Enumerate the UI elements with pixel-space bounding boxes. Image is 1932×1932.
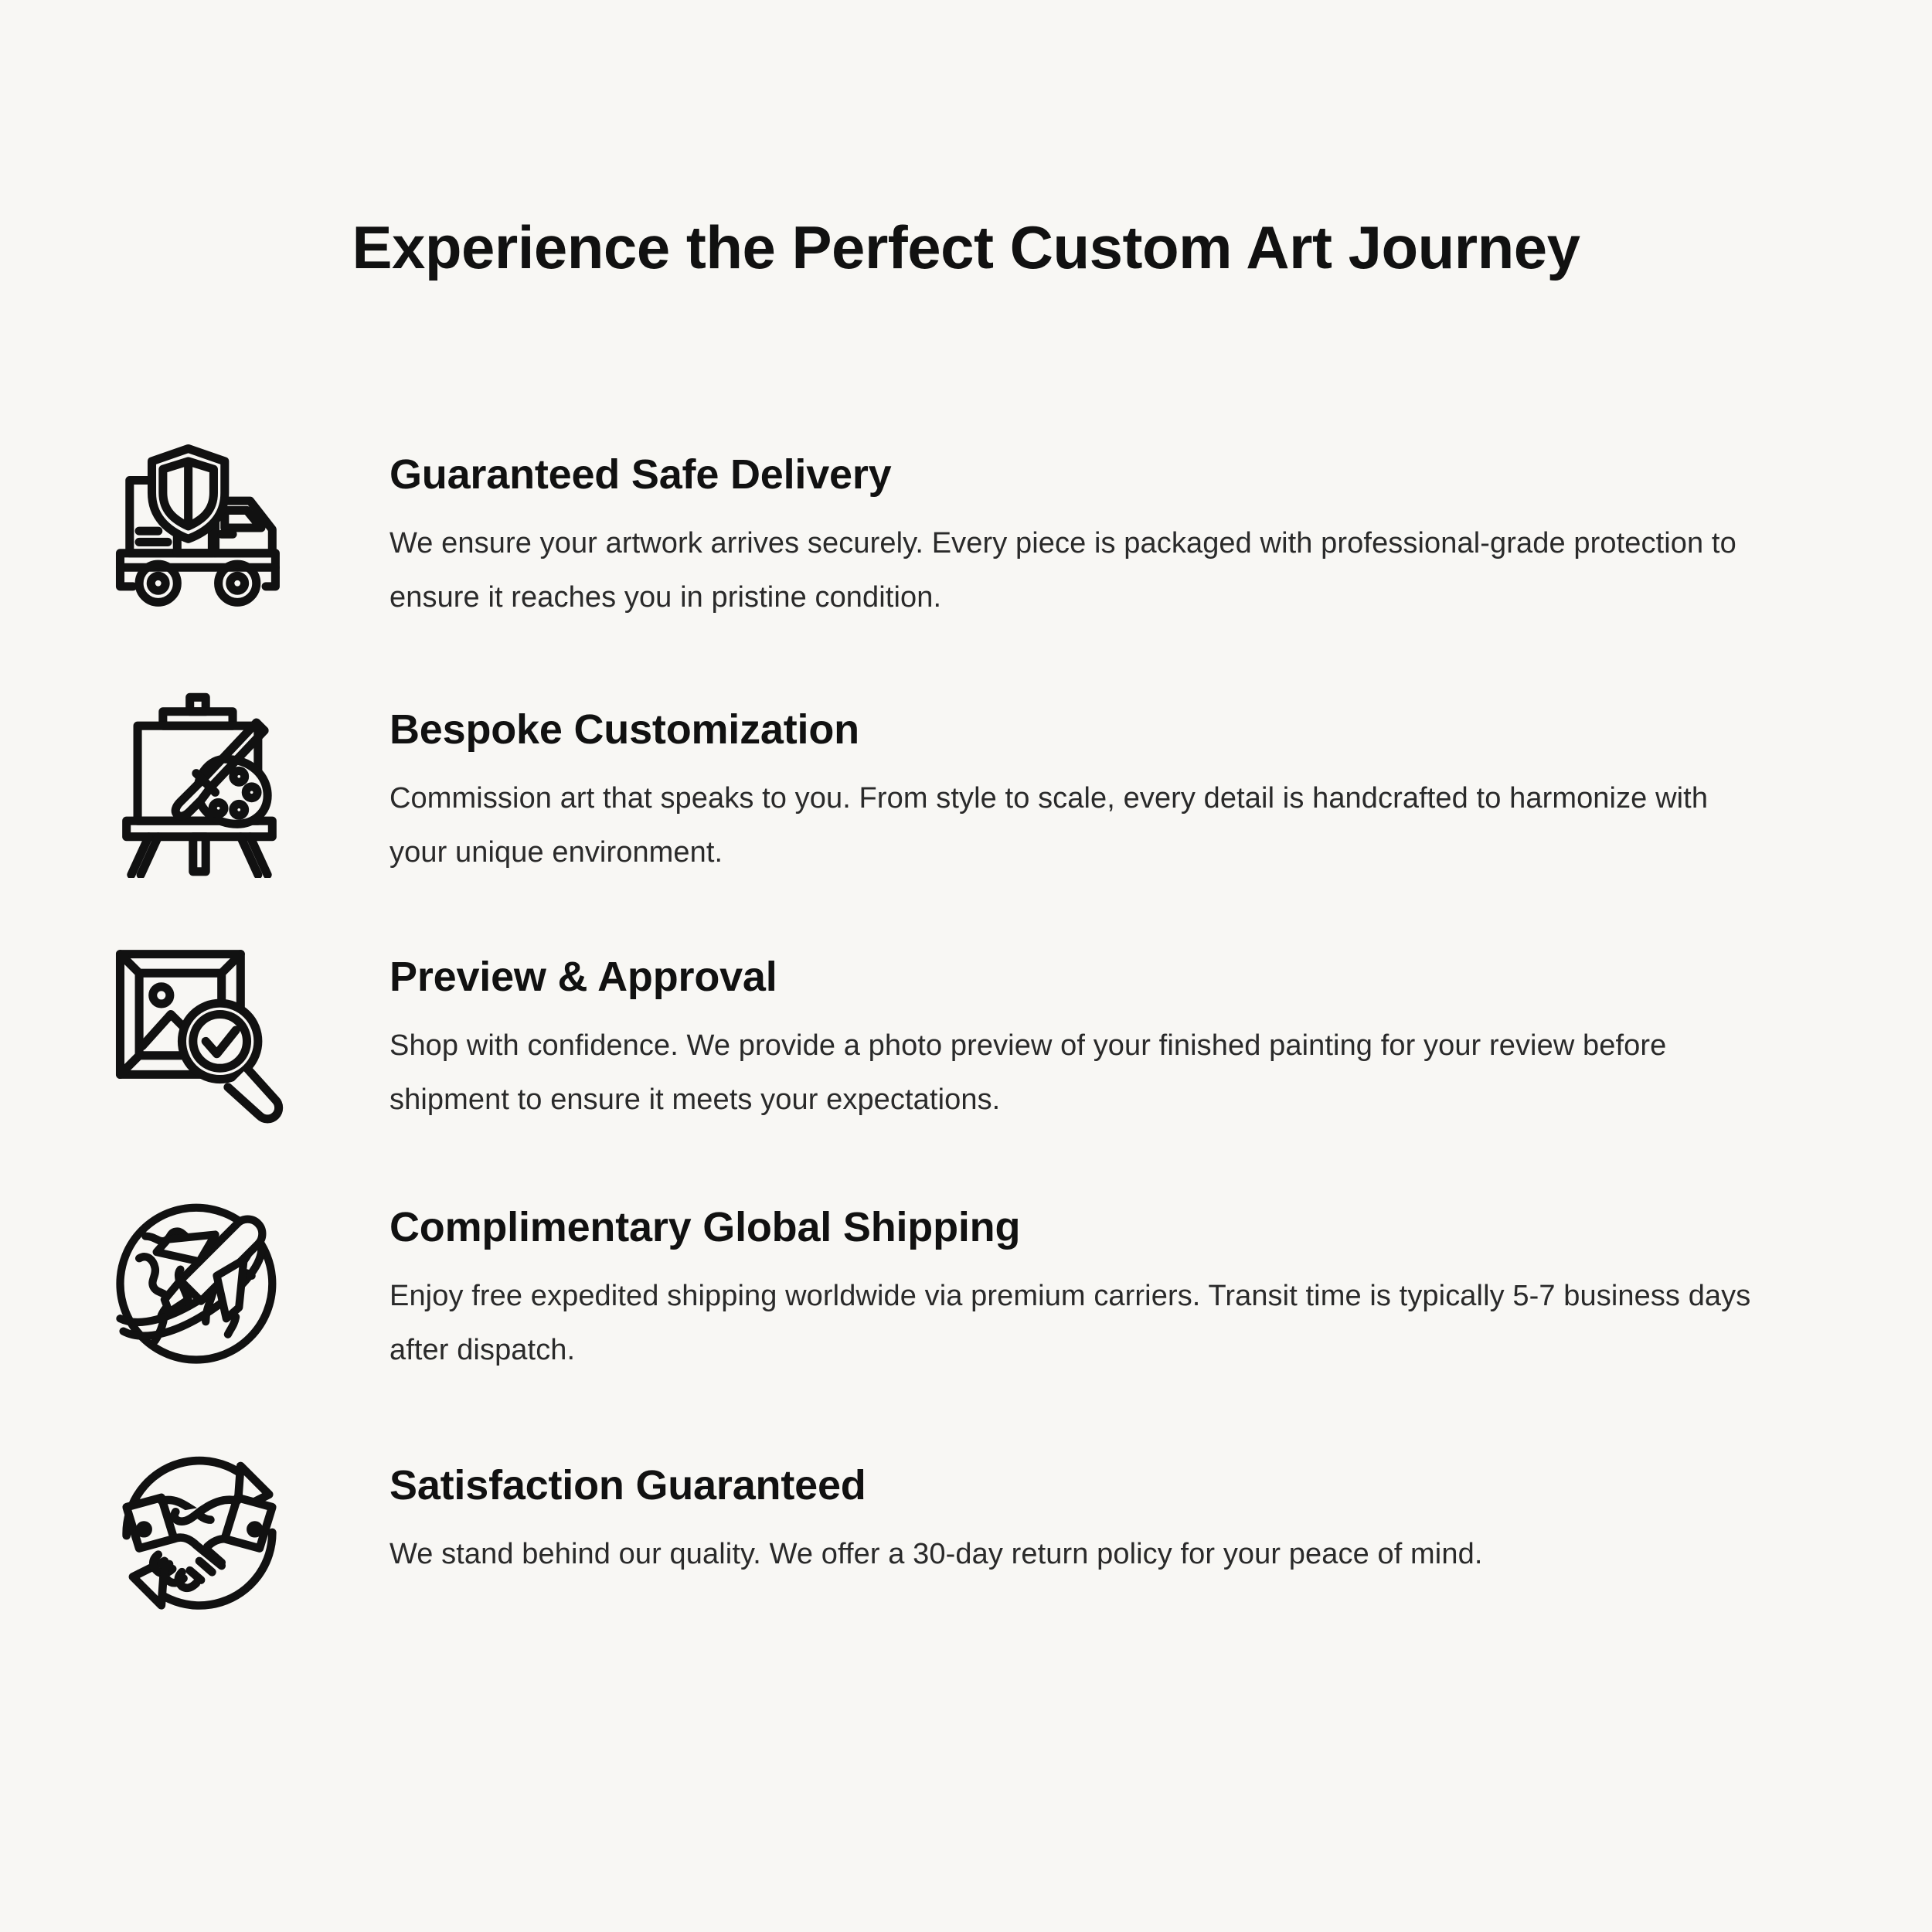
feature-text-block: Preview & Approval Shop with confidence.… [315,932,1753,1127]
feature-heading: Bespoke Customization [389,705,1753,754]
feature-item-safe-delivery: Guaranteed Safe Delivery We ensure your … [0,430,1932,651]
feature-text-block: Complimentary Global Shipping Enjoy free… [315,1182,1753,1377]
handshake-refresh-arrows-icon [83,1434,315,1641]
feature-description: Enjoy free expedited shipping worldwide … [389,1269,1753,1377]
feature-description: Commission art that speaks to you. From … [389,771,1753,879]
feature-highlights-page: Experience the Perfect Custom Art Journe… [0,0,1932,1932]
delivery-truck-shield-icon [83,430,315,637]
feature-text-block: Guaranteed Safe Delivery We ensure your … [315,430,1753,624]
globe-airplane-icon [83,1182,315,1389]
page-title: Experience the Perfect Custom Art Journe… [0,210,1932,284]
feature-heading: Guaranteed Safe Delivery [389,450,1753,499]
easel-palette-brush-icon [83,685,315,892]
feature-description: We stand behind our quality. We offer a … [389,1527,1753,1581]
feature-item-global-shipping: Complimentary Global Shipping Enjoy free… [0,1182,1932,1403]
feature-heading: Satisfaction Guaranteed [389,1461,1753,1510]
feature-item-preview-approval: Preview & Approval Shop with confidence.… [0,932,1932,1153]
feature-heading: Complimentary Global Shipping [389,1202,1753,1252]
feature-description: Shop with confidence. We provide a photo… [389,1019,1753,1127]
feature-list: Guaranteed Safe Delivery We ensure your … [0,430,1932,1655]
framed-picture-magnifier-check-icon [83,932,315,1139]
feature-item-bespoke-customization: Bespoke Customization Commission art tha… [0,685,1932,906]
feature-text-block: Bespoke Customization Commission art tha… [315,685,1753,879]
feature-description: We ensure your artwork arrives securely.… [389,516,1753,624]
feature-text-block: Satisfaction Guaranteed We stand behind … [315,1434,1753,1581]
feature-heading: Preview & Approval [389,952,1753,1002]
feature-item-satisfaction-guaranteed: Satisfaction Guaranteed We stand behind … [0,1434,1932,1655]
